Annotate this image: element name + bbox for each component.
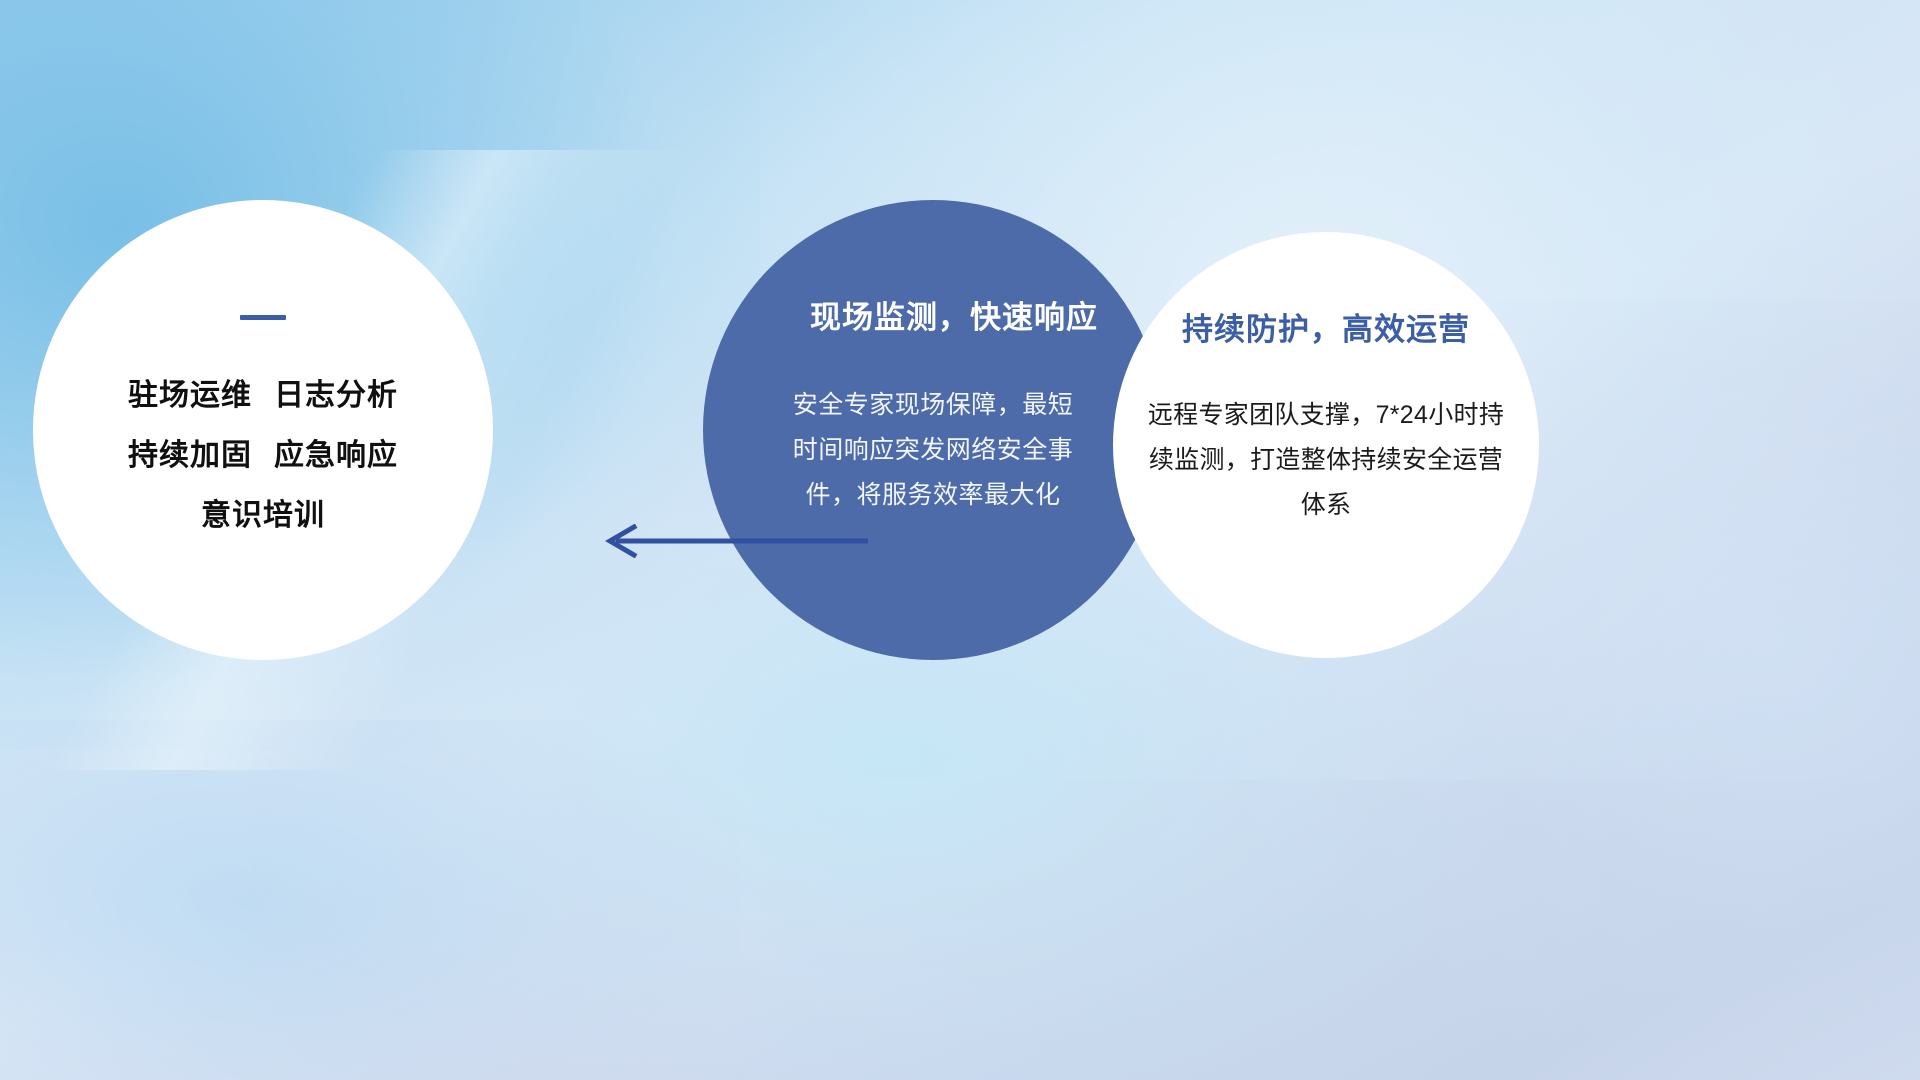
divider-dash [240,315,286,320]
right-circle-content: 持续防护，高效运营 远程专家团队支撑，7*24小时持续监测，打造整体持续安全运营… [1113,232,1539,658]
middle-circle-content: 现场监测，快速响应 安全专家现场保障，最短时间响应突发网络安全事件，将服务效率最… [703,200,1163,660]
right-circle-body: 远程专家团队支撑，7*24小时持续监测，打造整体持续安全运营体系 [1140,393,1512,528]
capability-item: 意识培训 [201,499,325,532]
right-circle-title: 持续防护，高效运营 [1182,304,1470,349]
capability-list: 驻场运维日志分析 持续加固应急响应 意识培训 [128,366,398,546]
background-glow-bottom-left [0,720,740,1080]
capability-item: 持续加固 [128,439,252,472]
slide-canvas: 驻场运维日志分析 持续加固应急响应 意识培训 现场监测，快速响应 安全专家现场保… [0,0,1920,1080]
capability-row: 意识培训 [128,486,398,546]
capability-item: 日志分析 [274,379,398,412]
middle-circle-body: 安全专家现场保障，最短时间响应突发网络安全事件，将服务效率最大化 [788,383,1078,518]
capability-row: 持续加固应急响应 [128,426,398,486]
capability-row: 驻场运维日志分析 [128,366,398,426]
capability-item: 驻场运维 [128,379,252,412]
capability-item: 应急响应 [274,439,398,472]
left-circle-content: 驻场运维日志分析 持续加固应急响应 意识培训 [33,200,493,660]
middle-circle-title: 现场监测，快速响应 [810,292,1098,337]
